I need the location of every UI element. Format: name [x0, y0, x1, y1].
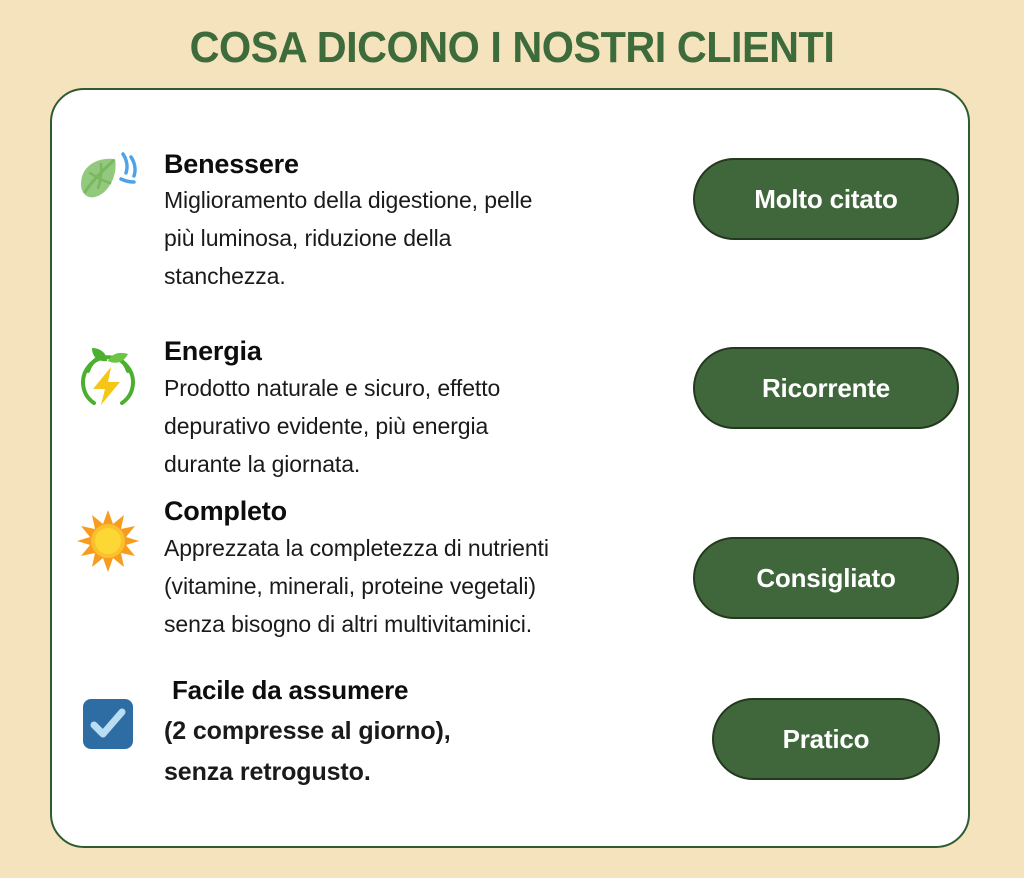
item-description: Apprezzata la completezza di nutrienti (…	[164, 529, 674, 643]
item-description: Miglioramento della digestione, pelle pi…	[164, 181, 674, 295]
item-text-cell: Benessere Miglioramento della digestione…	[164, 148, 684, 295]
item-title: Benessere	[164, 148, 674, 181]
item-text-cell: Energia Prodotto naturale e sicuro, effe…	[164, 335, 684, 483]
check-box-icon	[82, 698, 134, 750]
item-icon-cell	[52, 670, 164, 750]
benefits-card: Benessere Miglioramento della digestione…	[50, 88, 970, 848]
item-icon-cell	[52, 148, 164, 208]
testimonial-poster: COSA DICONO I NOSTRI CLIENTI	[0, 0, 1024, 878]
item-description: Prodotto naturale e sicuro, effetto depu…	[164, 369, 674, 483]
item-icon-cell	[52, 335, 164, 411]
item-badge-cell: Consigliato	[684, 495, 968, 619]
desc-line: durante la giornata.	[164, 451, 360, 477]
desc-line: Apprezzata la completezza di nutrienti	[164, 535, 549, 561]
item-title: Completo	[164, 495, 674, 528]
page-title: COSA DICONO I NOSTRI CLIENTI	[31, 16, 994, 80]
desc-line: senza retrogusto.	[164, 758, 371, 786]
sun-icon	[76, 509, 140, 573]
item-icon-cell	[52, 495, 164, 573]
benefits-list: Benessere Miglioramento della digestione…	[52, 90, 968, 846]
desc-line: (2 compresse al giorno),	[164, 717, 451, 745]
item-title: Energia	[164, 335, 674, 368]
item-badge-cell: Ricorrente	[684, 335, 968, 429]
desc-line: depurativo evidente, più energia	[164, 413, 488, 439]
badge-consigliato[interactable]: Consigliato	[693, 537, 959, 619]
desc-line: più luminosa, riduzione della	[164, 225, 451, 251]
item-badge-cell: Molto citato	[684, 148, 968, 240]
desc-line: Prodotto naturale e sicuro, effetto	[164, 375, 500, 401]
item-title: Facile da assumere	[164, 670, 674, 710]
desc-line: stanchezza.	[164, 263, 286, 289]
energy-leaf-bolt-icon	[76, 345, 140, 411]
item-text-cell: Completo Apprezzata la completezza di nu…	[164, 495, 684, 643]
list-item: Facile da assumere (2 compresse al giorn…	[52, 670, 968, 810]
badge-pratico[interactable]: Pratico	[712, 698, 940, 780]
item-badge-cell: Pratico	[684, 670, 968, 780]
desc-line: (vitamine, minerali, proteine vegetali)	[164, 573, 536, 599]
list-item: Benessere Miglioramento della digestione…	[52, 148, 968, 308]
item-description: (2 compresse al giorno), senza retrogust…	[164, 711, 674, 793]
list-item: Completo Apprezzata la completezza di nu…	[52, 495, 968, 650]
desc-line: senza bisogno di altri multivitaminici.	[164, 611, 532, 637]
leaf-fluttering-icon	[77, 150, 139, 208]
badge-molto-citato[interactable]: Molto citato	[693, 158, 959, 240]
list-item: Energia Prodotto naturale e sicuro, effe…	[52, 335, 968, 485]
badge-ricorrente[interactable]: Ricorrente	[693, 347, 959, 429]
desc-line: Miglioramento della digestione, pelle	[164, 187, 532, 213]
item-text-cell: Facile da assumere (2 compresse al giorn…	[164, 670, 684, 793]
